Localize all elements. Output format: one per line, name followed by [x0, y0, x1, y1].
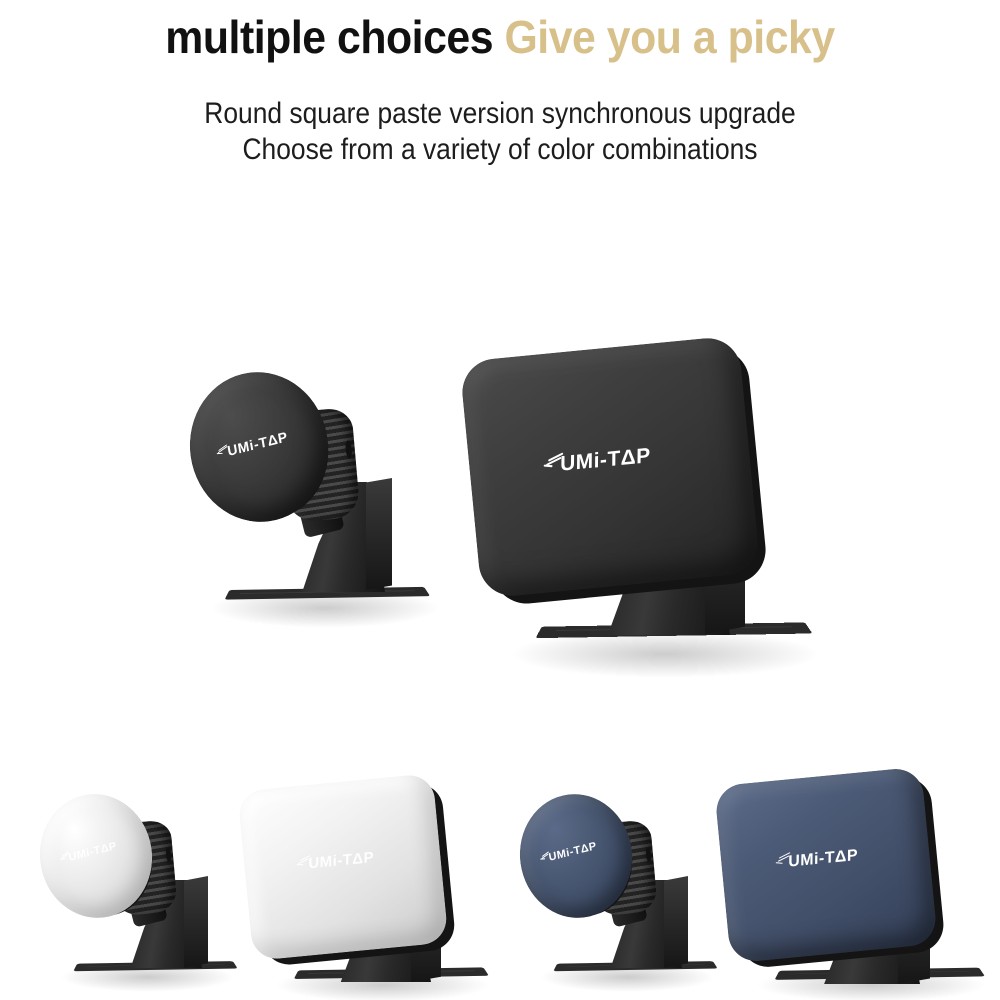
stand-wedge-side — [664, 876, 688, 968]
subtitle-line-1: Round square paste version synchronous u… — [60, 96, 940, 132]
stand-wedge-side — [184, 876, 208, 968]
page-subtitle: Round square paste version synchronous u… — [60, 96, 940, 168]
stand-wedge-side — [366, 478, 392, 590]
page-title: multiple choices Give you a picky — [35, 8, 965, 66]
pad-face — [459, 335, 761, 599]
magnetic-pad-square: UMi-TΔP — [459, 335, 761, 599]
headline-gold-part: Give you a picky — [504, 11, 834, 63]
pad-face — [237, 773, 448, 961]
product-variant-round-white: UMi-TΔP — [30, 780, 240, 1000]
subtitle-line-2: Choose from a variety of color combinati… — [60, 132, 940, 168]
headline-dark-part: multiple choices — [165, 11, 493, 63]
pad-face — [714, 766, 938, 963]
magnetic-pad-square: UMi-TΔP — [714, 766, 938, 963]
product-hero-round-black: UMi-TΔP — [180, 350, 460, 640]
product-hero-square-black: UMi-TΔP — [440, 330, 870, 670]
product-variant-square-white: UMi-TΔP — [225, 772, 505, 1000]
product-variant-square-navy: UMi-TΔP — [700, 768, 1000, 1000]
magnetic-pad-square: UMi-TΔP — [237, 773, 448, 961]
product-banner: multiple choices Give you a picky Round … — [0, 0, 1000, 1000]
product-variant-round-navy: UMi-TΔP — [510, 780, 720, 1000]
